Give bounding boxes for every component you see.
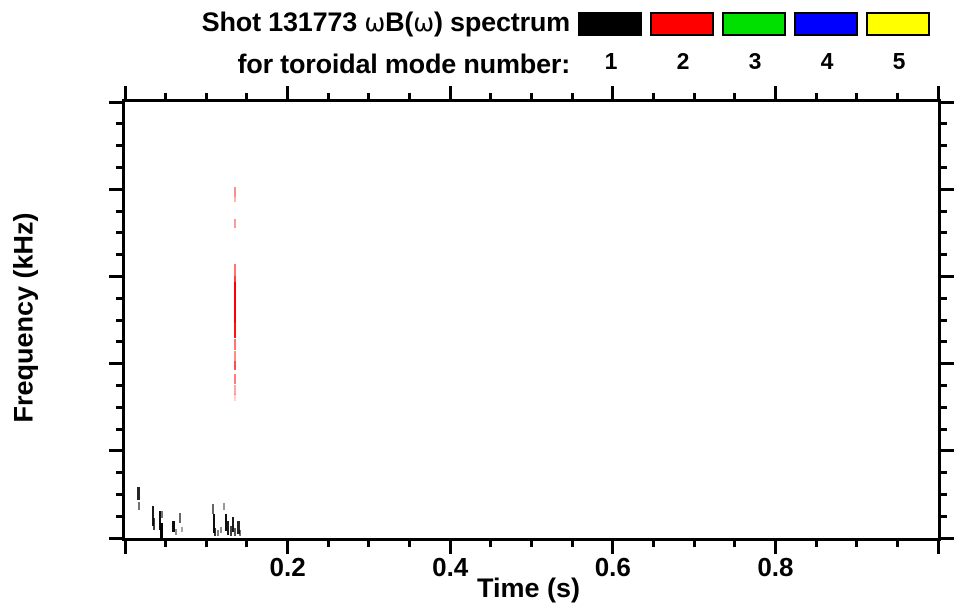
y-tick-minor-75 xyxy=(116,210,125,213)
legend-label-mode-3: 3 xyxy=(722,50,788,73)
x-tick-minor-0.55 xyxy=(571,538,574,547)
y-tick-minor-65 xyxy=(116,253,125,256)
data-mark-mode-2 xyxy=(234,385,236,395)
x-tick-top-minor-0.75 xyxy=(733,93,736,102)
x-tick-minor-0.35 xyxy=(408,538,411,547)
y-tick-minor-right-85 xyxy=(938,166,947,169)
data-mark-mode-2 xyxy=(234,323,236,338)
y-tick-minor-15 xyxy=(116,471,125,474)
x-tick-major-0 xyxy=(124,538,127,554)
x-tick-top-major-0.4 xyxy=(449,86,452,102)
x-tick-top-minor-0.50 xyxy=(530,93,533,102)
legend-swatch-mode-3 xyxy=(722,12,786,36)
y-tick-minor-95 xyxy=(116,122,125,125)
data-mark-mode-2 xyxy=(234,374,236,384)
y-tick-minor-50 xyxy=(116,319,125,322)
x-tick-top-minor-0.70 xyxy=(693,93,696,102)
data-mark-mode-1 xyxy=(239,530,241,537)
y-tick-minor-right-15 xyxy=(938,471,947,474)
y-tick-major-80 xyxy=(109,188,125,191)
data-mark-mode-1 xyxy=(181,527,183,532)
data-mark-mode-2 xyxy=(234,219,236,228)
chart-title-line-2: for toroidal mode number: xyxy=(70,49,570,80)
y-tick-right-major-40 xyxy=(938,362,954,365)
chart-header: Shot 131773 ωB(ω) spectrum for toroidal … xyxy=(0,0,963,95)
x-tick-top-minor-0.30 xyxy=(367,93,370,102)
y-tick-right-major-60 xyxy=(938,275,954,278)
y-tick-minor-55 xyxy=(116,297,125,300)
x-tick-top-minor-0.45 xyxy=(489,93,492,102)
y-tick-minor-85 xyxy=(116,166,125,169)
data-mark-mode-1 xyxy=(160,523,163,538)
legend-item-mode-5: 5 xyxy=(866,12,932,73)
y-tick-minor-right-95 xyxy=(938,122,947,125)
x-axis-title-text: Time (s) xyxy=(477,573,580,603)
plot-frame: 0204060801000.20.40.60.8 xyxy=(122,99,941,541)
data-mark-mode-2 xyxy=(234,264,236,275)
x-axis-title: Time (s) xyxy=(122,573,935,604)
data-mark-mode-1 xyxy=(153,518,155,530)
data-mark-mode-2 xyxy=(234,361,236,370)
x-tick-major-1 xyxy=(937,538,940,554)
data-mark-mode-2 xyxy=(234,197,236,202)
legend-label-mode-2: 2 xyxy=(650,50,716,73)
x-tick-top-major-0 xyxy=(124,86,127,102)
x-tick-top-minor-0.85 xyxy=(815,93,818,102)
data-mark-mode-1 xyxy=(175,529,177,535)
y-tick-minor-30 xyxy=(116,406,125,409)
legend-item-mode-4: 4 xyxy=(794,12,860,73)
data-mark-mode-1 xyxy=(137,487,139,500)
legend-label-mode-4: 4 xyxy=(794,50,860,73)
x-tick-top-major-0.8 xyxy=(774,86,777,102)
x-tick-minor-0.75 xyxy=(733,538,736,547)
y-tick-minor-5 xyxy=(116,515,125,518)
x-tick-top-minor-0.65 xyxy=(652,93,655,102)
data-mark-mode-1 xyxy=(234,528,236,536)
data-mark-mode-2 xyxy=(234,351,236,361)
data-mark-mode-1 xyxy=(212,504,214,514)
x-tick-minor-0.45 xyxy=(489,538,492,547)
legend-item-mode-1: 1 xyxy=(578,12,644,73)
y-tick-minor-right-10 xyxy=(938,493,947,496)
x-tick-top-minor-0.15 xyxy=(245,93,248,102)
plot-canvas xyxy=(125,102,938,538)
y-tick-minor-10 xyxy=(116,493,125,496)
legend: 12345 xyxy=(578,12,963,92)
y-tick-minor-right-30 xyxy=(938,406,947,409)
x-tick-minor-0.10 xyxy=(205,538,208,547)
x-tick-top-minor-0.95 xyxy=(896,93,899,102)
data-mark-mode-1 xyxy=(217,530,219,536)
legend-item-mode-3: 3 xyxy=(722,12,788,73)
y-tick-minor-45 xyxy=(116,340,125,343)
legend-label-mode-5: 5 xyxy=(866,50,932,73)
chart-title-line-1: Shot 131773 ωB(ω) spectrum xyxy=(70,7,570,38)
y-tick-minor-90 xyxy=(116,144,125,147)
x-tick-top-minor-0.05 xyxy=(164,93,167,102)
legend-item-mode-2: 2 xyxy=(650,12,716,73)
y-tick-minor-35 xyxy=(116,384,125,387)
y-tick-minor-right-25 xyxy=(938,428,947,431)
y-tick-minor-right-50 xyxy=(938,319,947,322)
x-tick-top-major-0.6 xyxy=(611,86,614,102)
data-mark-mode-2 xyxy=(234,282,236,324)
y-tick-major-60 xyxy=(109,275,125,278)
y-tick-minor-right-35 xyxy=(938,384,947,387)
y-tick-right-major-20 xyxy=(938,449,954,452)
data-mark-mode-1 xyxy=(223,503,225,510)
y-tick-major-20 xyxy=(109,449,125,452)
data-mark-mode-2 xyxy=(234,394,236,401)
y-tick-minor-right-5 xyxy=(938,515,947,518)
x-tick-minor-0.65 xyxy=(652,538,655,547)
chart-title-text-3: ) spectrum xyxy=(434,7,570,37)
x-tick-minor-0.70 xyxy=(693,538,696,547)
data-mark-mode-2 xyxy=(234,187,236,197)
x-tick-minor-0.25 xyxy=(327,538,330,547)
x-tick-minor-0.90 xyxy=(855,538,858,547)
data-mark-mode-1 xyxy=(227,521,229,535)
x-tick-minor-0.85 xyxy=(815,538,818,547)
chart-title-text-2: B( xyxy=(385,7,413,37)
legend-swatch-mode-5 xyxy=(866,12,930,36)
x-tick-minor-0.95 xyxy=(896,538,899,547)
y-tick-right-major-100 xyxy=(938,101,954,104)
x-tick-top-minor-0.25 xyxy=(327,93,330,102)
x-tick-top-minor-0.10 xyxy=(205,93,208,102)
y-tick-major-40 xyxy=(109,362,125,365)
omega-symbol-1: ω xyxy=(364,8,385,37)
y-tick-minor-right-70 xyxy=(938,231,947,234)
data-mark-mode-1 xyxy=(179,513,181,523)
y-tick-minor-right-75 xyxy=(938,210,947,213)
y-axis-title: Frequency (kHz) xyxy=(6,99,42,535)
x-tick-minor-0.05 xyxy=(164,538,167,547)
x-tick-top-minor-0.35 xyxy=(408,93,411,102)
legend-swatch-mode-4 xyxy=(794,12,858,36)
legend-swatch-mode-1 xyxy=(578,12,642,36)
data-mark-mode-1 xyxy=(214,528,216,537)
omega-symbol-2: ω xyxy=(413,8,434,37)
x-tick-top-minor-0.55 xyxy=(571,93,574,102)
y-axis-title-text: Frequency (kHz) xyxy=(9,212,40,422)
data-mark-mode-1 xyxy=(161,511,163,518)
x-tick-top-minor-0.90 xyxy=(855,93,858,102)
y-tick-right-major-0 xyxy=(938,537,954,540)
y-tick-minor-right-65 xyxy=(938,253,947,256)
x-tick-minor-0.15 xyxy=(245,538,248,547)
x-tick-top-major-0.2 xyxy=(286,86,289,102)
legend-swatch-mode-2 xyxy=(650,12,714,36)
y-tick-minor-right-55 xyxy=(938,297,947,300)
y-tick-minor-right-45 xyxy=(938,340,947,343)
data-mark-mode-2 xyxy=(234,339,236,350)
legend-label-mode-1: 1 xyxy=(578,50,644,73)
data-mark-mode-1 xyxy=(220,527,222,533)
x-tick-minor-0.30 xyxy=(367,538,370,547)
x-tick-minor-0.50 xyxy=(530,538,533,547)
y-tick-minor-right-90 xyxy=(938,144,947,147)
x-tick-top-major-1 xyxy=(937,86,940,102)
y-tick-right-major-80 xyxy=(938,188,954,191)
data-mark-mode-1 xyxy=(138,502,140,510)
chart-title-text-1: Shot 131773 xyxy=(202,7,365,37)
y-tick-minor-70 xyxy=(116,231,125,234)
y-tick-minor-25 xyxy=(116,428,125,431)
